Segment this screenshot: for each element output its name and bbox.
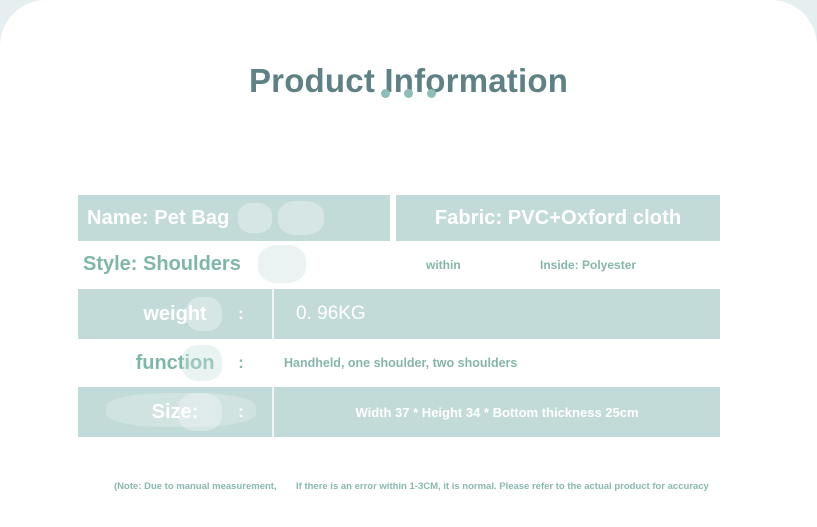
dot-separator [0,89,817,98]
within-label: within [426,258,461,272]
dot-2-icon [404,89,413,98]
weight-colon: : [238,304,244,324]
watermark-ghost [278,201,324,235]
function-value-cell: Handheld, one shoulder, two shoulders [274,339,720,387]
cell-fabric: Fabric: PVC+Oxford cloth [396,195,720,241]
inside-material-label: Inside: Polyester [540,258,636,272]
table-row-weight: weight : 0. 96KG [78,289,720,339]
fabric-label: Fabric: PVC+Oxford cloth [435,207,681,230]
table-row-function: function : Handheld, one shoulder, two s… [78,339,720,387]
table-row-style: Style: Shoulders within Inside: Polyeste… [78,241,720,289]
size-value-cell: Width 37 * Height 34 * Bottom thickness … [274,387,720,437]
product-information-card: Product Information Name: Pet Bag [0,0,817,527]
size-colon: : [238,402,244,422]
table-row-size: Size: : Width 37 * Height 34 * Bottom th… [78,387,720,437]
size-label-cell: Size: : [78,387,272,437]
function-value: Handheld, one shoulder, two shoulders [274,356,517,370]
weight-row-divider [272,289,274,339]
weight-label-cell: weight : [78,289,272,339]
size-label: Size: [152,401,199,424]
weight-value-cell: 0. 96KG [274,289,720,339]
size-value: Width 37 * Height 34 * Bottom thickness … [355,405,638,420]
weight-value: 0. 96KG [274,303,366,325]
watermark-ghost [258,245,306,283]
dot-3-icon [427,89,436,98]
watermark-ghost [238,203,272,233]
table-row-name-fabric: Name: Pet Bag Fabric: PVC+Oxford cloth [78,195,720,241]
function-label: function [136,352,215,375]
weight-label: weight [143,303,206,326]
function-label-cell: function : [78,339,272,387]
spec-table: Name: Pet Bag Fabric: PVC+Oxford cloth S… [78,195,720,437]
page-root: Product Information Name: Pet Bag [0,0,817,527]
footnote-part-one: (Note: Due to manual measurement, [114,481,277,492]
cell-name: Name: Pet Bag [78,195,390,241]
dot-1-icon [381,89,390,98]
footnote-part-two: If there is an error within 1-3CM, it is… [296,481,709,492]
style-label: Style: Shoulders [83,253,241,276]
footnote: (Note: Due to manual measurement, If the… [78,481,720,497]
size-row-divider [272,387,274,437]
product-name-label: Name: Pet Bag [87,207,229,230]
function-row-divider [272,339,274,387]
function-colon: : [238,353,244,373]
